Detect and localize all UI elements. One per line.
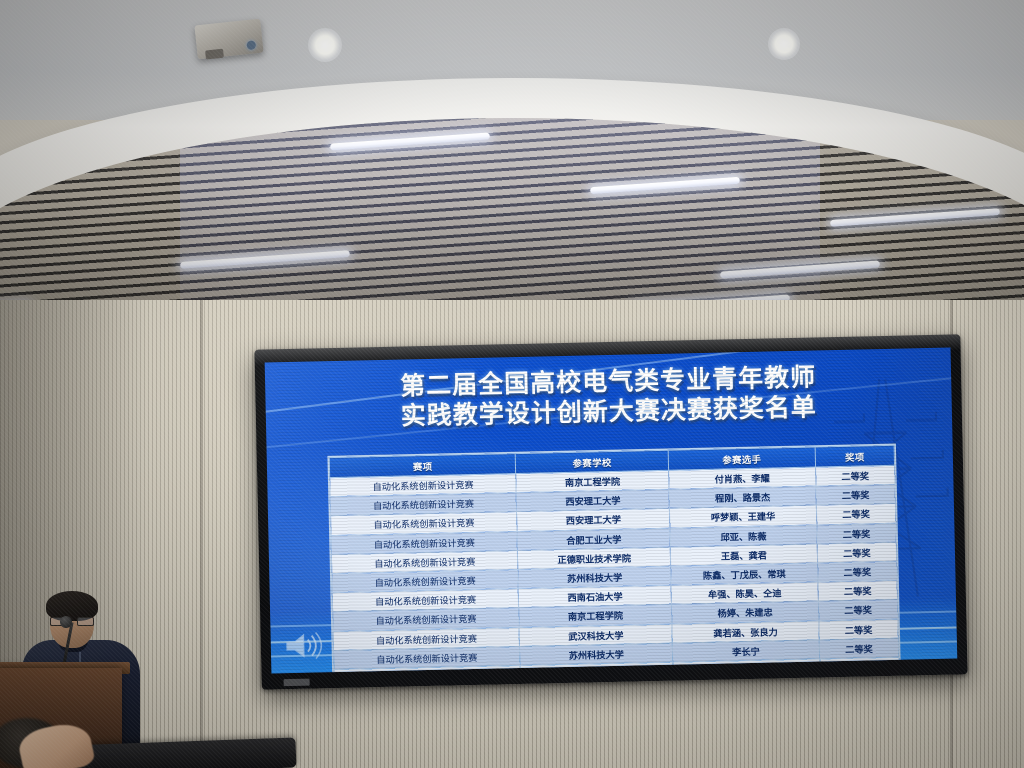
cell-award: 二等奖 [818,580,898,601]
linear-led-strip [720,260,880,278]
wall-panel-seam [200,300,203,768]
column-header-award: 奖项 [815,445,895,467]
display-brand-logo [284,679,310,687]
linear-led-strip [330,132,490,150]
ceiling-projector [194,19,263,60]
cell-award: 二等奖 [815,465,895,486]
conference-room-photo: 第二届全国高校电气类专业青年教师 实践教学设计创新大赛决赛获奖名单 赛项 参赛学… [0,0,1024,768]
linear-led-strip [180,250,350,269]
cell-award: 二等奖 [817,542,897,563]
cell-award: 二等奖 [818,600,898,621]
led-video-wall[interactable]: 第二届全国高校电气类专业青年教师 实践教学设计创新大赛决赛获奖名单 赛项 参赛学… [254,334,967,689]
cell-award: 二等奖 [816,484,896,505]
cell-award: 二等奖 [816,504,896,525]
linear-led-strip [830,208,1000,227]
speaker-icon[interactable] [283,630,324,661]
recessed-downlight [308,28,342,62]
projector-lens-icon [246,40,256,50]
recessed-downlight [768,28,800,60]
display-screen: 第二届全国高校电气类专业青年教师 实践教学设计创新大赛决赛获奖名单 赛项 参赛学… [265,348,958,674]
table-body: 自动化系统创新设计竞赛南京工程学院付肖燕、李耀二等奖自动化系统创新设计竞赛西安理… [330,465,899,673]
linear-led-strip [590,177,740,194]
cell-award: 二等奖 [819,619,899,640]
award-list-table: 赛项 参赛学校 参赛选手 奖项 自动化系统创新设计竞赛南京工程学院付肖燕、李耀二… [329,445,900,674]
cell-award: 二等奖 [818,561,898,582]
cell-award: 二等奖 [819,638,899,659]
cell-award: 二等奖 [817,523,897,544]
microphone-head-icon [60,616,72,628]
